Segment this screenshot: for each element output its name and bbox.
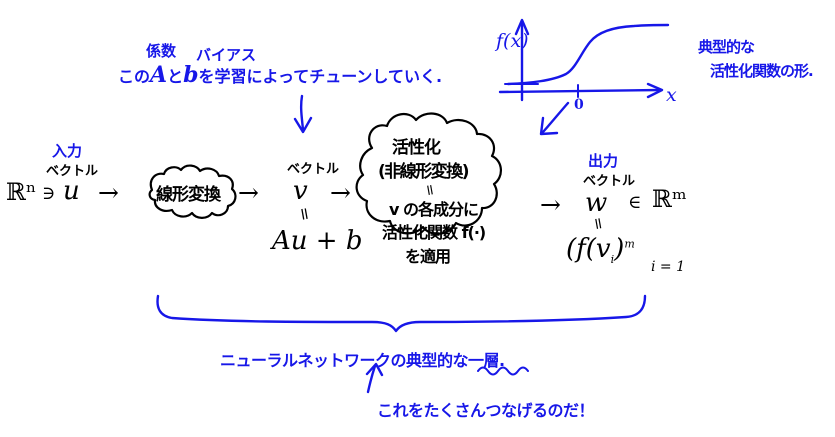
handwritten-diagram-canvas: 係数 バイアス このAとbを学習によってチューンしていく. 入力 ベクトル ℝⁿ… (0, 0, 835, 437)
up-arrow-icon (0, 0, 835, 437)
bottom-note: これをたくさんつなげるのだ！ (377, 397, 594, 421)
